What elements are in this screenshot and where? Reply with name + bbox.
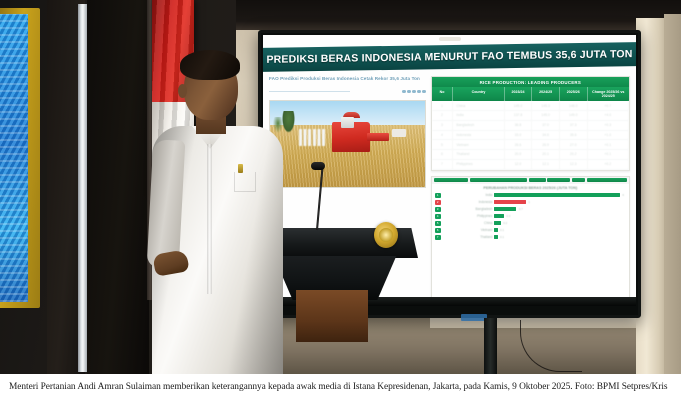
chart-bar-track: 1 [494, 200, 626, 204]
table-cell: 26.6 [505, 140, 533, 149]
chart-category-label: India [443, 193, 493, 197]
chart-toolbar [432, 177, 629, 184]
chart-bar-track: 0.1 [494, 235, 626, 239]
harvest-photo [269, 100, 426, 188]
table-cell: 6 [432, 150, 454, 159]
chart-rank-badge: 5 [435, 221, 441, 226]
chart-bar-value: 0.1 [500, 228, 504, 232]
screen-stand [484, 318, 497, 374]
table-cell: Indonesia [453, 131, 504, 140]
th-2023: 2023/24 [505, 87, 533, 101]
th-country: Country [453, 87, 504, 101]
table-row: 2India137.8145.0149.0+4.0 [432, 111, 629, 121]
chart-bar [494, 228, 497, 232]
chart-bar-value: 0.1 [500, 235, 504, 239]
chart-bar-track: 0.1 [494, 228, 626, 232]
toolbar-segment-4 [547, 178, 570, 182]
table-cell: 35.6 [560, 131, 588, 140]
chart-rank-badge: 2 [435, 200, 441, 205]
speaker-shirt-pocket [234, 172, 256, 192]
chart-bar-row: 2Indonesia1 [435, 199, 626, 206]
chart-bars: 1India42Indonesia13Bangladesh0.74Philipp… [432, 192, 629, 300]
chart-bar-value: 4 [622, 193, 624, 197]
table-row: 4Indonesia33.034.635.6+1.0 [432, 131, 629, 141]
chart-bar-track: 0.2 [494, 221, 626, 225]
speaker-ear [178, 84, 187, 98]
table-cell: 5 [432, 140, 454, 149]
table-cell: +0.7 [588, 101, 629, 110]
share-whatsapp-icon [412, 90, 415, 93]
table-cell: Bangladesh [453, 121, 504, 130]
caption-text: Menteri Pertanian Andi Amran Sulaiman me… [0, 382, 668, 392]
chart-bar-value: 0.7 [519, 207, 523, 211]
table-cell: 26.9 [532, 140, 560, 149]
table-cell: 37.3 [560, 121, 588, 130]
slide-right-column: RICE PRODUCTION: LEADING PRODUCERS No Co… [431, 76, 630, 301]
toolbar-segment-6 [587, 178, 627, 182]
wall-pillar-far [664, 14, 681, 374]
share-telegram-icon [417, 90, 420, 93]
table-cell: 12.3 [560, 160, 588, 169]
table-title: RICE PRODUCTION: LEADING PRODUCERS [432, 77, 629, 87]
table-cell: Philippines [453, 160, 504, 169]
th-2024: 2024/25 [532, 87, 560, 101]
chart-category-label: Vietnam [443, 228, 493, 232]
th-change: Change 2025/26 vs 2024/25 [588, 87, 629, 101]
microphone-icon-2 [311, 162, 325, 170]
door-panel [87, 0, 149, 374]
chart-category-label: China [443, 221, 493, 225]
chart-category-label: Indonesia [443, 200, 493, 204]
table-cell: 146.0 [560, 101, 588, 110]
table-header-row: No Country 2023/24 2024/25 2025/26 Chang… [432, 87, 629, 101]
table-cell: 3 [432, 121, 454, 130]
garuda-emblem-icon [374, 222, 398, 248]
table-cell: 145.0 [505, 101, 533, 110]
table-cell: 37.0 [532, 121, 560, 130]
table-row: 5Vietnam26.626.927.0+0.1 [432, 140, 629, 150]
production-change-chart: PERUBAHAN PRODUKSI BERAS 2025/26 (JUTA T… [431, 176, 630, 301]
chart-bar-track: 4 [494, 193, 626, 197]
chart-bar-row: 6Vietnam0.1 [435, 227, 626, 234]
slide-title: PREDIKSI BERAS INDONESIA MENURUT FAO TEM… [263, 42, 636, 72]
toolbar-segment-2 [470, 178, 527, 182]
table-cell: 149.0 [560, 111, 588, 120]
table-cell: China [453, 101, 504, 110]
table-row: 7Philippines12.012.112.3+0.2 [432, 160, 629, 170]
share-link-icon [422, 90, 425, 93]
table-cell: 20.2 [560, 150, 588, 159]
table-cell: +0.1 [588, 150, 629, 159]
table-cell: 4 [432, 131, 454, 140]
chart-bar-row: 3Bangladesh0.7 [435, 206, 626, 213]
chart-rank-badge: 4 [435, 214, 441, 219]
chart-rank-badge: 1 [435, 193, 441, 198]
table-cell: +4.0 [588, 111, 629, 120]
podium-base [296, 290, 368, 342]
th-no: No [432, 87, 454, 101]
chart-category-label: Thailand [443, 235, 493, 239]
chart-category-label: Philippines [443, 214, 493, 218]
toolbar-segment-5 [572, 178, 585, 182]
chart-bar-row: 7Thailand0.1 [435, 234, 626, 241]
photo-harvester-arm [367, 133, 389, 141]
chart-bar-row: 1India4 [435, 192, 626, 199]
speaker-sleeve [147, 139, 186, 268]
photo-harvester-cabin [341, 117, 354, 128]
news-photo: PREDIKSI BERAS INDONESIA MENURUT FAO TEM… [0, 0, 681, 374]
table-cell: 33.0 [505, 131, 533, 140]
door-trim [78, 4, 87, 372]
chart-bar-value: 0.3 [506, 214, 510, 218]
table-cell: 137.8 [505, 111, 533, 120]
table-cell: +0.2 [588, 160, 629, 169]
photo-people [299, 129, 326, 146]
share-icons [402, 90, 425, 93]
table-cell: 145.0 [532, 111, 560, 120]
ornament-panel-blue [0, 14, 28, 302]
screen-camera-notch [439, 37, 461, 41]
chart-bar [494, 207, 516, 211]
table-cell: 36.8 [505, 121, 533, 130]
chart-rank-badge: 7 [435, 235, 441, 240]
speaker-figure [150, 44, 285, 374]
table-cell: 20.0 [505, 150, 533, 159]
table-cell: India [453, 111, 504, 120]
table-row: 6Thailand20.020.120.2+0.1 [432, 150, 629, 160]
table-cell: +0.1 [588, 140, 629, 149]
th-2025: 2025/26 [560, 87, 588, 101]
table-cell: 34.6 [532, 131, 560, 140]
table-cell: 20.1 [532, 150, 560, 159]
table-cell: 27.0 [560, 140, 588, 149]
ceiling-band [236, 0, 681, 30]
chart-category-label: Bangladesh [443, 207, 493, 211]
table-cell: Thailand [453, 150, 504, 159]
speaker-hair [180, 50, 240, 80]
table-cell: 12.1 [532, 160, 560, 169]
table-row: 1China145.0145.3146.0+0.7 [432, 101, 629, 111]
chart-bar [494, 200, 525, 204]
table-cell: 12.0 [505, 160, 533, 169]
chart-bar-track: 0.7 [494, 207, 626, 211]
speaker-shirt-placket [207, 144, 212, 294]
chart-bar-row: 5China0.2 [435, 220, 626, 227]
table-cell: 7 [432, 160, 454, 169]
chart-bar-row: 4Philippines0.3 [435, 213, 626, 220]
chart-bar-track: 0.3 [494, 214, 626, 218]
news-headline: FAO Prediksi Produksi Beras Indonesia Ce… [269, 76, 426, 83]
table-row: 3Bangladesh36.837.037.3+0.3 [432, 121, 629, 131]
chart-bar [494, 221, 500, 225]
rice-production-table: RICE PRODUCTION: LEADING PRODUCERS No Co… [431, 76, 630, 171]
share-facebook-icon [402, 90, 405, 93]
share-twitter-icon [407, 90, 410, 93]
photo-caption: Menteri Pertanian Andi Amran Sulaiman me… [0, 374, 681, 400]
toolbar-segment-3 [529, 178, 546, 182]
chart-bar-value: 1 [528, 200, 530, 204]
table-body: 1China145.0145.3146.0+0.72India137.8145.… [432, 101, 629, 169]
chart-bar [494, 193, 619, 197]
chart-bar [494, 235, 497, 239]
speaker-pen-badge [238, 164, 243, 173]
table-cell: 145.3 [532, 101, 560, 110]
table-cell: +1.0 [588, 131, 629, 140]
table-cell: 2 [432, 111, 454, 120]
table-cell: 1 [432, 101, 454, 110]
table-cell: +0.3 [588, 121, 629, 130]
chart-title: PERUBAHAN PRODUKSI BERAS 2025/26 (JUTA T… [432, 184, 629, 192]
chart-bar [494, 214, 503, 218]
photo-truck [392, 129, 406, 137]
table-cell: Vietnam [453, 140, 504, 149]
chart-rank-badge: 6 [435, 228, 441, 233]
chart-bar-value: 0.2 [503, 221, 507, 225]
chart-rank-badge: 3 [435, 207, 441, 212]
toolbar-segment-1 [434, 178, 468, 182]
news-meta-row [269, 90, 426, 93]
